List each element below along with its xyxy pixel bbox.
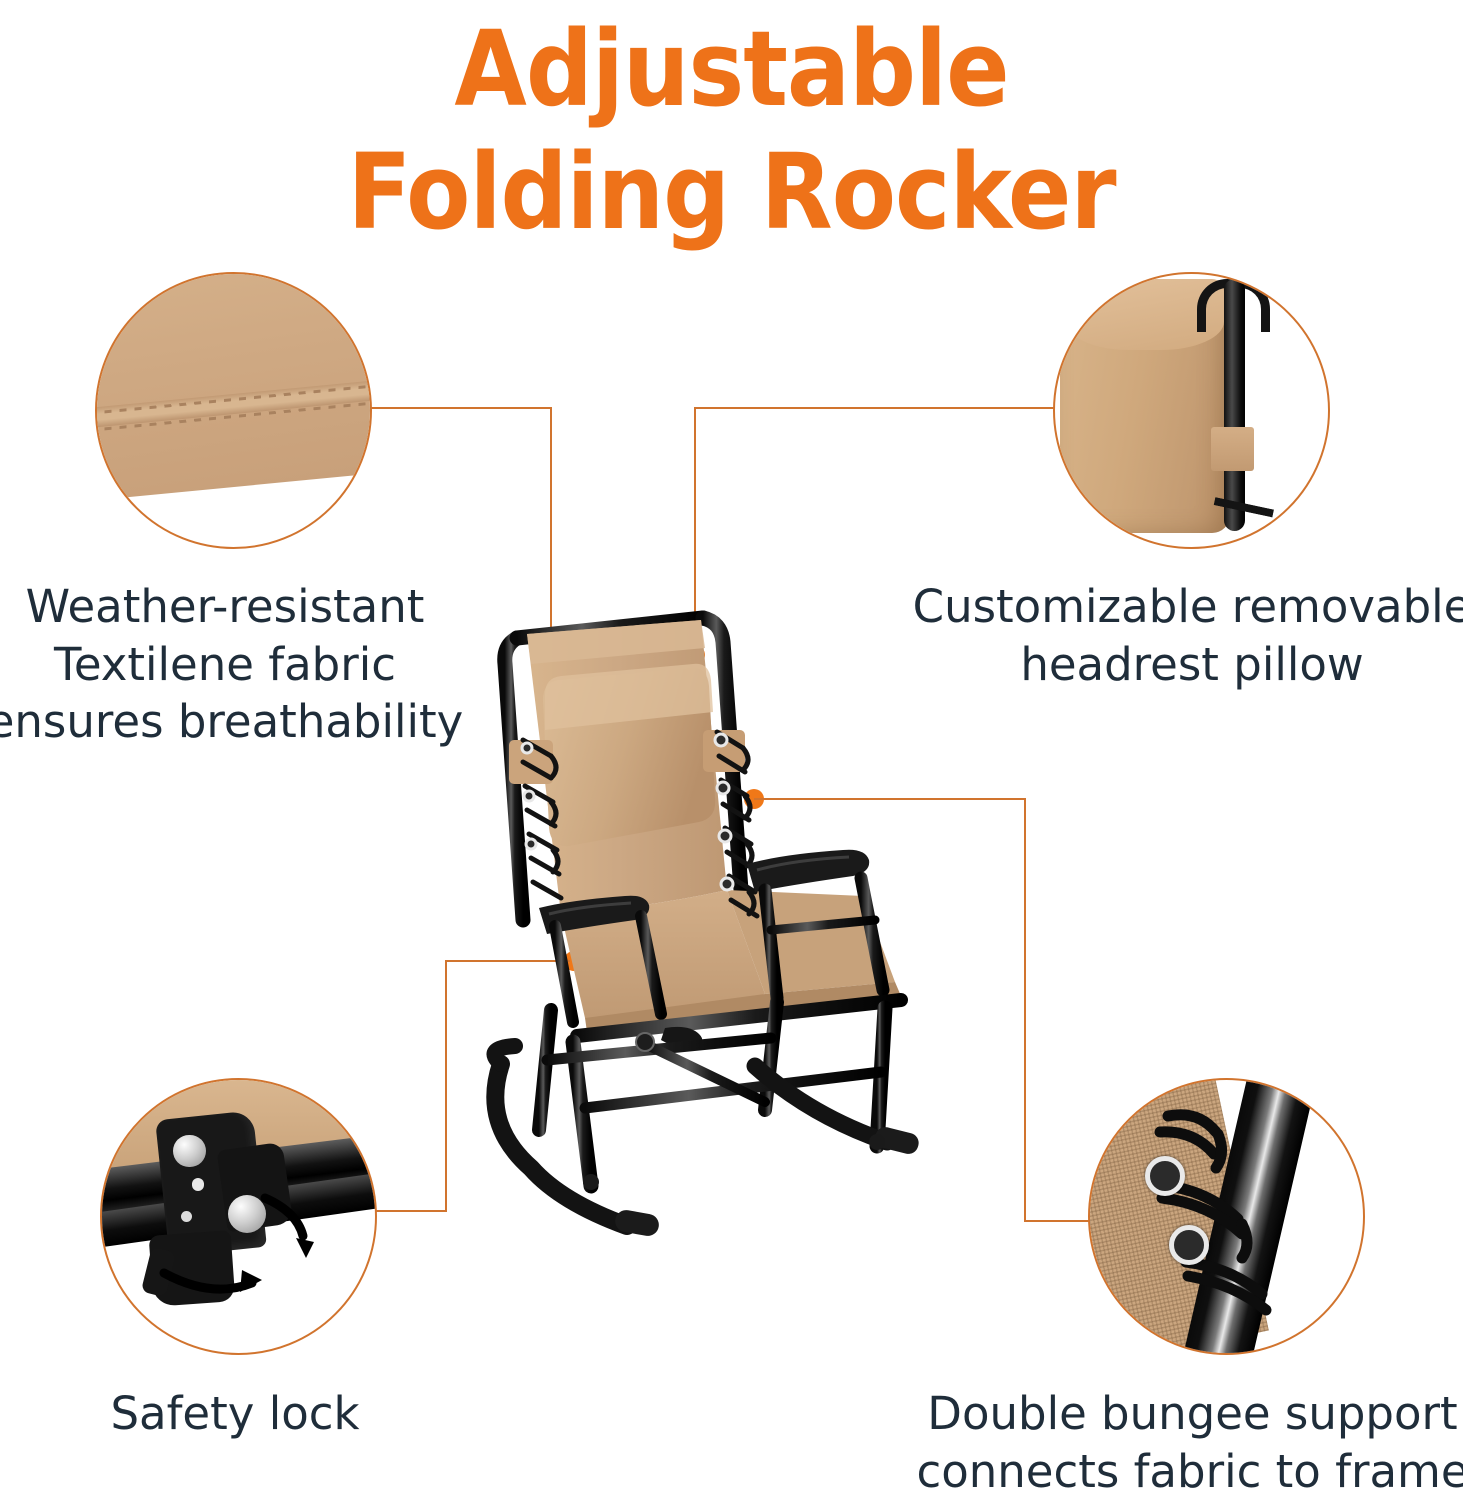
fabric-seam-closeup-icon bbox=[95, 272, 372, 549]
callout-label-fabric: Weather-resistant Textilene fabric ensur… bbox=[0, 578, 490, 751]
rotation-arrows-icon bbox=[102, 1080, 375, 1353]
callout-label-pillow: Customizable removable headrest pillow bbox=[892, 578, 1463, 693]
headrest-pillow-closeup-icon bbox=[1053, 272, 1330, 549]
connector-line-fabric-h bbox=[366, 407, 552, 409]
safety-lock-closeup-icon bbox=[100, 1078, 377, 1355]
connector-line-pillow-h bbox=[695, 407, 1055, 409]
connector-line-lock-v bbox=[445, 960, 447, 1212]
callout-label-bungee: Double bungee support connects fabric to… bbox=[905, 1385, 1463, 1500]
bungee-grommet-closeup-icon bbox=[1088, 1078, 1365, 1355]
callout-label-lock: Safety lock bbox=[10, 1385, 460, 1443]
bungee-cords-icon bbox=[1090, 1080, 1363, 1353]
page-title: Adjustable Folding Rocker bbox=[0, 8, 1463, 253]
infographic-canvas: Adjustable Folding Rocker bbox=[0, 0, 1463, 1500]
